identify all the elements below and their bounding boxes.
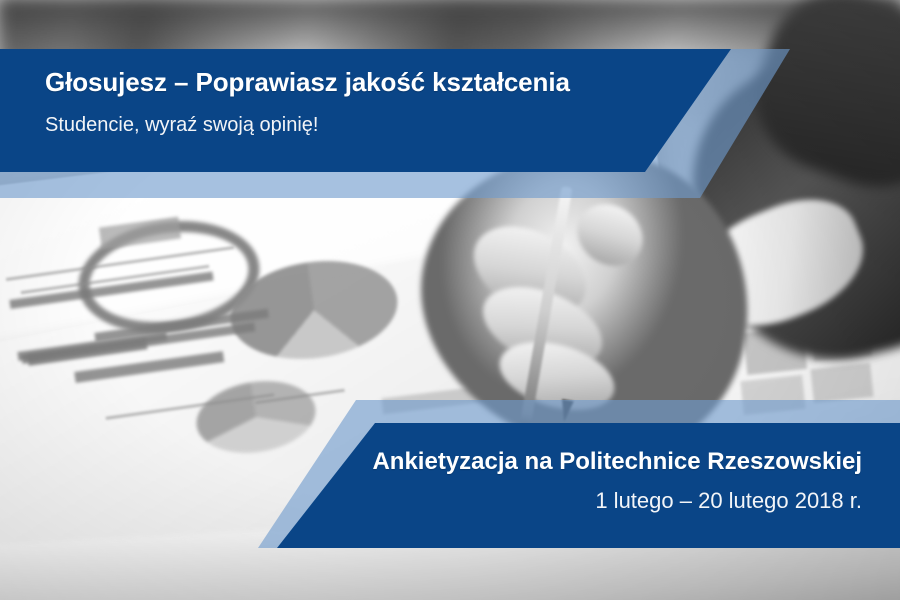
bottom-banner-title: Ankietyzacja na Politechnice Rzeszowskie… [342,448,862,476]
top-banner-subtitle: Studencie, wyraź swoją opinię! [45,113,625,137]
top-banner-text: Głosujesz – Poprawiasz jakość kształceni… [45,68,625,137]
poster-banner: Głosujesz – Poprawiasz jakość kształceni… [0,0,900,600]
bottom-banner-text: Ankietyzacja na Politechnice Rzeszowskie… [342,448,862,514]
bottom-banner-date-range: 1 lutego – 20 lutego 2018 r. [342,488,862,514]
top-banner-title: Głosujesz – Poprawiasz jakość kształceni… [45,68,625,97]
